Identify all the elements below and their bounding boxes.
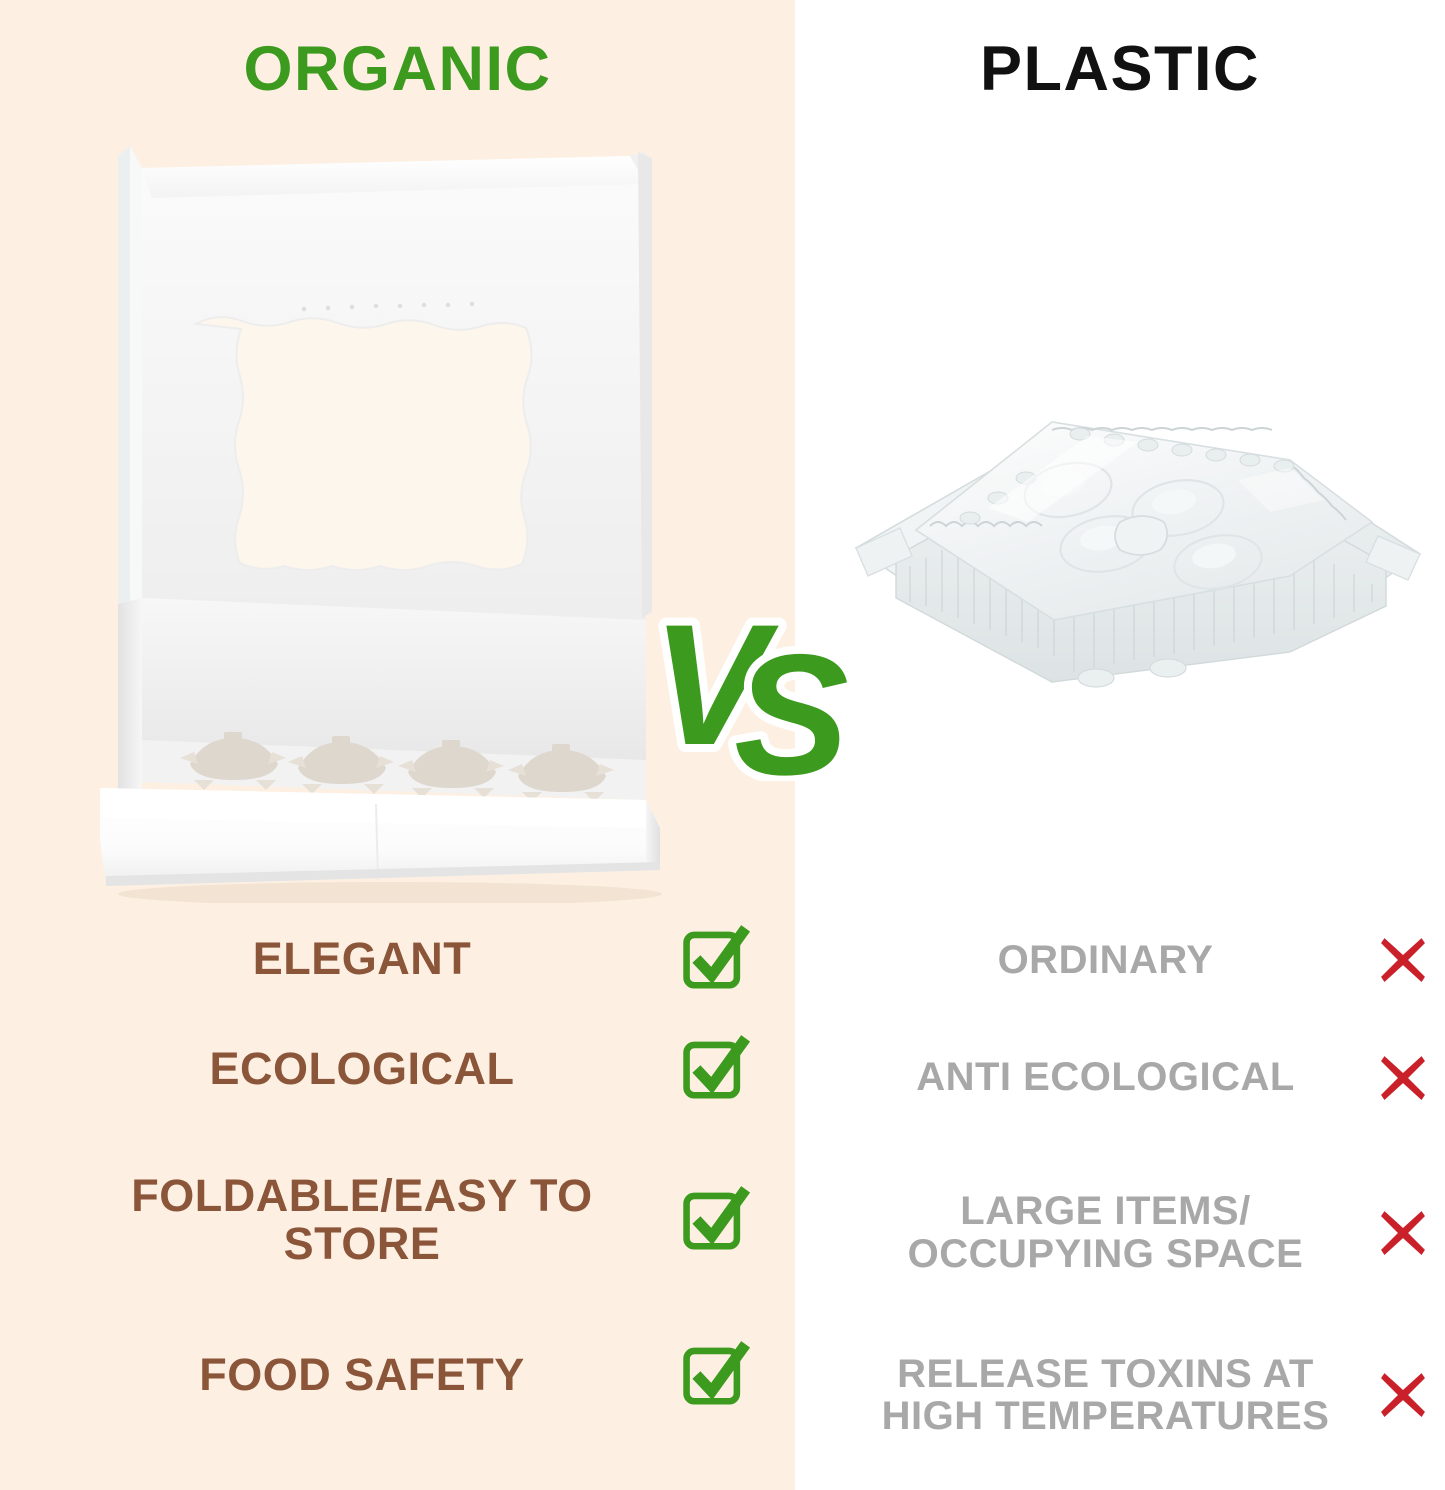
organic-feature-list: ELEGANT ECOLOGICAL FOLDABLE/EASY TO STOR…: [60, 905, 750, 1435]
feature-label: LARGE ITEMS/ OCCUPYING SPACE: [855, 1190, 1376, 1275]
green-check-box-icon: [680, 924, 750, 994]
red-cross-icon: [1376, 1368, 1430, 1422]
feature-row-large-items: LARGE ITEMS/ OCCUPYING SPACE: [855, 1140, 1430, 1325]
plastic-feature-list: ORDINARY ANTI ECOLOGICAL LARGE ITEMS/ OC…: [855, 905, 1430, 1465]
organic-heading: ORGANIC: [0, 38, 795, 101]
plastic-heading: PLASTIC: [795, 38, 1445, 101]
feature-label: FOLDABLE/EASY TO STORE: [60, 1172, 680, 1267]
feature-row-release-toxins: RELEASE TOXINS AT HIGH TEMPERATURES: [855, 1325, 1430, 1465]
feature-label: ORDINARY: [855, 939, 1376, 981]
green-check-box-icon: [680, 1185, 750, 1255]
feature-row-food-safety: FOOD SAFETY: [60, 1315, 750, 1435]
feature-label: ECOLOGICAL: [60, 1045, 680, 1093]
feature-label: ANTI ECOLOGICAL: [855, 1056, 1376, 1098]
feature-label: FOOD SAFETY: [60, 1351, 680, 1399]
feature-row-elegant: ELEGANT: [60, 905, 750, 1013]
red-cross-icon: [1376, 933, 1430, 987]
feature-row-ordinary: ORDINARY: [855, 905, 1430, 1015]
feature-label: ELEGANT: [60, 935, 680, 983]
feature-row-ecological: ECOLOGICAL: [60, 1013, 750, 1125]
feature-row-anti-ecological: ANTI ECOLOGICAL: [855, 1015, 1430, 1140]
feature-label: RELEASE TOXINS AT HIGH TEMPERATURES: [855, 1353, 1376, 1438]
versus-badge-icon: V S V S S: [648, 586, 878, 781]
feature-row-foldable: FOLDABLE/EASY TO STORE: [60, 1125, 750, 1315]
red-cross-icon: [1376, 1206, 1430, 1260]
comparison-infographic: ORGANIC PLASTIC: [0, 0, 1445, 1490]
clear-plastic-clamshell-icon: [838, 330, 1438, 700]
green-check-box-icon: [680, 1340, 750, 1410]
white-paper-cake-box-icon: [90, 128, 680, 903]
red-cross-icon: [1376, 1051, 1430, 1105]
svg-text:S: S: [734, 619, 849, 781]
green-check-box-icon: [680, 1034, 750, 1104]
